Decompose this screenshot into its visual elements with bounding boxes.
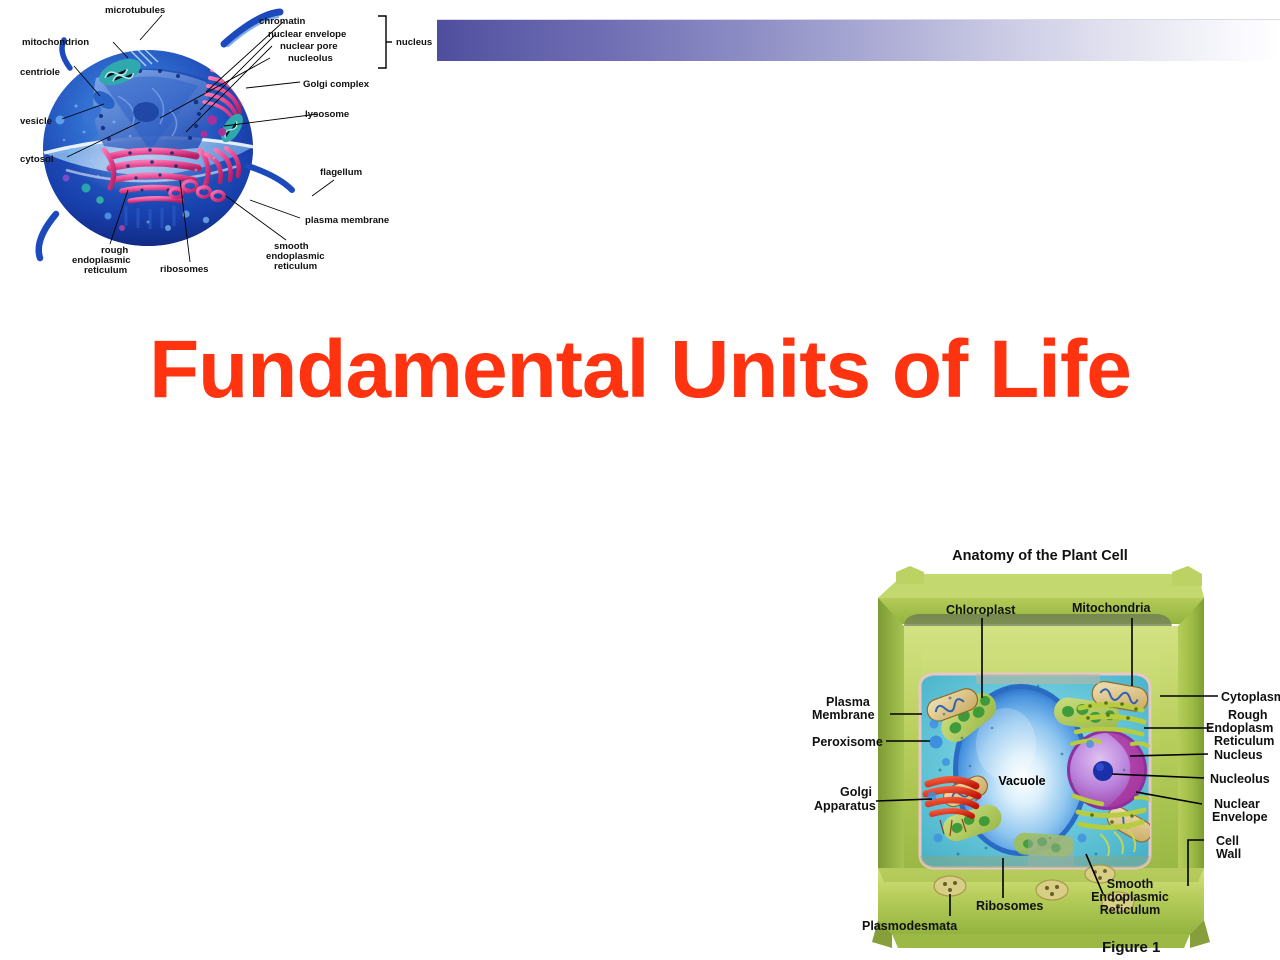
plant-label-rough-er-2: Endoplasm	[1206, 721, 1273, 735]
plant-label-nuclear-envelope-1: Nuclear	[1214, 797, 1260, 811]
plant-label-plasma-membrane-1: Plasma	[826, 695, 871, 709]
plant-label-smooth-er-1: Smooth	[1107, 877, 1154, 891]
plant-label-chloroplast: Chloroplast	[946, 603, 1016, 617]
plant-label-rough-er-3: Reticulum	[1214, 734, 1274, 748]
plant-label-nucleolus: Nucleolus	[1210, 772, 1270, 786]
plant-cell-heading: Anatomy of the Plant Cell	[952, 548, 1128, 564]
animal-label-nuclear-pore: nuclear pore	[280, 41, 338, 52]
animal-label-ribosomes: ribosomes	[160, 264, 209, 275]
animal-label-centriole: centriole	[20, 67, 60, 78]
animal-label-nucleolus: nucleolus	[288, 53, 333, 64]
plant-label-cytoplasm: Cytoplasm	[1221, 690, 1280, 704]
page-title: Fundamental Units of Life	[0, 326, 1280, 414]
animal-label-smooth-er-3: reticulum	[274, 261, 317, 272]
plant-label-vacuole: Vacuole	[998, 774, 1045, 788]
animal-label-rough-er-3: reticulum	[84, 265, 127, 276]
plant-label-golgi-1: Golgi	[840, 785, 872, 799]
nucleolus-shape	[1093, 761, 1113, 781]
animal-label-chromatin: chromatin	[259, 16, 306, 27]
gradient-banner	[437, 19, 1280, 61]
plant-label-mitochondria: Mitochondria	[1072, 601, 1152, 615]
plant-label-plasma-membrane-2: Membrane	[812, 708, 875, 722]
plant-label-ribosomes: Ribosomes	[976, 899, 1043, 913]
plant-label-smooth-er-2: Endoplasmic	[1091, 890, 1169, 904]
plant-label-rough-er-1: Rough	[1228, 708, 1268, 722]
plant-label-nuclear-envelope-2: Envelope	[1212, 810, 1268, 824]
animal-label-vesicle: vesicle	[20, 116, 52, 127]
plant-cell-caption: Figure 1	[1102, 939, 1160, 956]
plant-label-peroxisome: Peroxisome	[812, 735, 883, 749]
animal-label-flagellum: flagellum	[320, 167, 362, 178]
animal-label-plasma-membrane: plasma membrane	[305, 215, 389, 226]
animal-label-golgi-complex: Golgi complex	[303, 79, 370, 90]
plant-label-cell-wall-1: Cell	[1216, 834, 1239, 848]
plant-label-smooth-er-3: Reticulum	[1100, 903, 1160, 917]
plant-label-cell-wall-2: Wall	[1216, 847, 1241, 861]
plant-label-golgi-2: Apparatus	[814, 799, 876, 813]
plant-cell-diagram: Anatomy of the Plant Cell	[800, 538, 1280, 960]
animal-label-cytosol: cytosol	[20, 154, 54, 165]
animal-label-lysosome: lysosome	[305, 109, 349, 120]
plant-label-nucleus: Nucleus	[1214, 748, 1263, 762]
plant-label-plasmodesmata: Plasmodesmata	[862, 919, 958, 933]
animal-label-mitochondrion: mitochondrion	[22, 37, 89, 48]
animal-label-nucleus: nucleus	[396, 37, 432, 48]
animal-label-nuclear-envelope: nuclear envelope	[268, 29, 346, 40]
animal-label-microtubules: microtubules	[105, 5, 165, 16]
cell-interior	[920, 674, 1156, 868]
animal-cell-diagram: microtubules mitochondrion centriole ves…	[0, 0, 436, 285]
